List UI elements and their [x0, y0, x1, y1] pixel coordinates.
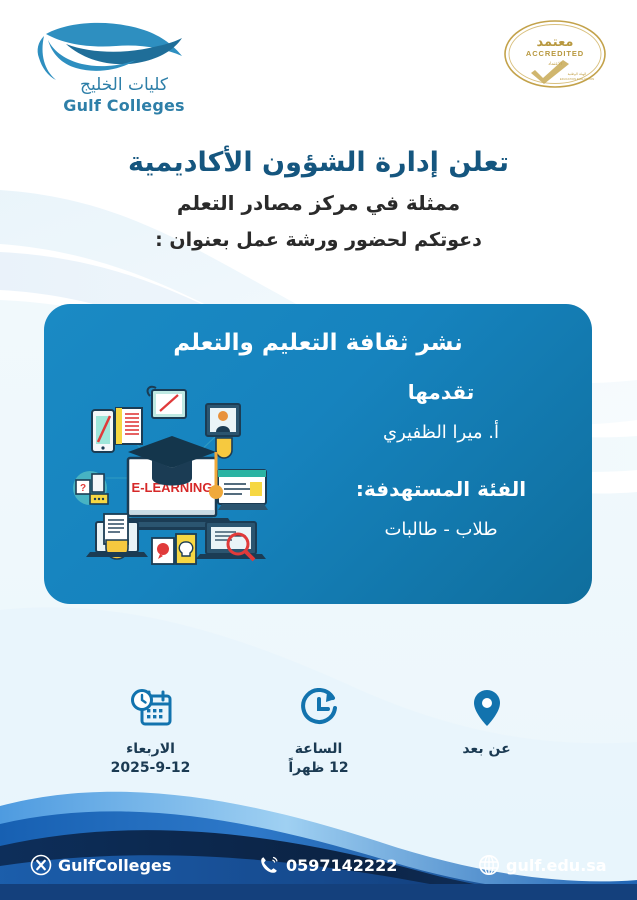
svg-text:?: ?: [80, 483, 86, 494]
info-item-time: الساعة 12 ظهراً: [264, 688, 374, 778]
info-item-location: عن بعد: [432, 688, 542, 759]
poster-header: كليات الخليج Gulf Colleges معتمد ACCREDI…: [0, 0, 637, 130]
svg-text:الهيئة الوطنية: الهيئة الوطنية: [568, 72, 587, 76]
footer-website-label: gulf.edu.sa: [506, 856, 607, 875]
footer-phone[interactable]: 0597142222: [258, 854, 397, 876]
workshop-title: نشر ثقافة التعليم والتعلم: [44, 330, 592, 356]
e-learning-illustration: ?: [66, 382, 278, 578]
phone-notes-icon: [92, 408, 142, 452]
handheld-screen-icon: [206, 404, 240, 458]
svg-text:معتمد: معتمد: [537, 35, 574, 50]
tablet-pen-icon: [148, 387, 186, 418]
global-knowledge-icon: ?: [73, 471, 108, 505]
presenter-name: أ. ميرا الظفيري: [316, 422, 566, 443]
footer-phone-label: 0597142222: [286, 856, 397, 875]
event-info-row: الاربعاء 2025-9-12 الساعة 12 ظهراً عن بع…: [0, 688, 637, 778]
logo-arabic-text: كليات الخليج: [54, 76, 194, 95]
announcement-title: تعلن إدارة الشؤون الأكاديمية: [0, 146, 637, 180]
svg-text:الاعتماد: الاعتماد: [548, 62, 562, 67]
audience-value: طلاب - طالبات: [316, 519, 566, 540]
info-location-value: عن بعد: [432, 740, 542, 759]
workshop-details: تقدمها أ. ميرا الظفيري الفئة المستهدفة: …: [316, 380, 566, 540]
poster-footer: GulfColleges 0597142222 gulf.edu.sa: [0, 790, 637, 900]
globe-icon[interactable]: [478, 854, 500, 876]
info-date-value: 2025-9-12: [96, 759, 206, 778]
info-item-date: الاربعاء 2025-9-12: [96, 688, 206, 778]
gulf-colleges-logo: كليات الخليج Gulf Colleges: [28, 18, 208, 118]
location-pin-icon: [465, 688, 509, 728]
gulf-wave-logo-icon: [36, 18, 186, 80]
info-date-day: الاربعاء: [96, 740, 206, 759]
chat-idea-icon: [152, 534, 196, 564]
presenter-label: تقدمها: [316, 380, 566, 404]
audience-label: الفئة المستهدفة:: [316, 477, 566, 501]
footer-social[interactable]: GulfColleges: [30, 854, 171, 876]
announcement-subtitle: ممثلة في مركز مصادر التعلم: [0, 190, 637, 216]
accreditation-seal-icon: معتمد ACCREDITED الاعتماد الهيئة الوطنية…: [501, 18, 609, 90]
svg-text:EDUCATION EVALUATION: EDUCATION EVALUATION: [560, 77, 594, 81]
announcement-invite: دعوتكم لحضور ورشة عمل بعنوان :: [0, 228, 637, 253]
phone-icon[interactable]: [258, 854, 280, 876]
info-time-value: 12 ظهراً: [264, 759, 374, 778]
x-twitter-icon[interactable]: [30, 854, 52, 876]
logo-english-text: Gulf Colleges: [54, 96, 194, 115]
info-time-label: الساعة: [264, 740, 374, 759]
workshop-card: نشر ثقافة التعليم والتعلم تقدمها أ. ميرا…: [44, 304, 592, 604]
footer-contacts: GulfColleges 0597142222 gulf.edu.sa: [0, 854, 637, 882]
browser-window-icon: [218, 470, 268, 510]
clock-icon: [297, 688, 341, 728]
search-laptop-icon: [196, 522, 266, 560]
poster-root: كليات الخليج Gulf Colleges معتمد ACCREDI…: [0, 0, 637, 900]
calendar-clock-icon: [129, 688, 173, 728]
svg-text:ACCREDITED: ACCREDITED: [526, 49, 584, 58]
footer-social-label: GulfColleges: [58, 856, 171, 875]
announcement-block: تعلن إدارة الشؤون الأكاديمية ممثلة في مر…: [0, 146, 637, 252]
footer-website[interactable]: gulf.edu.sa: [478, 854, 607, 876]
